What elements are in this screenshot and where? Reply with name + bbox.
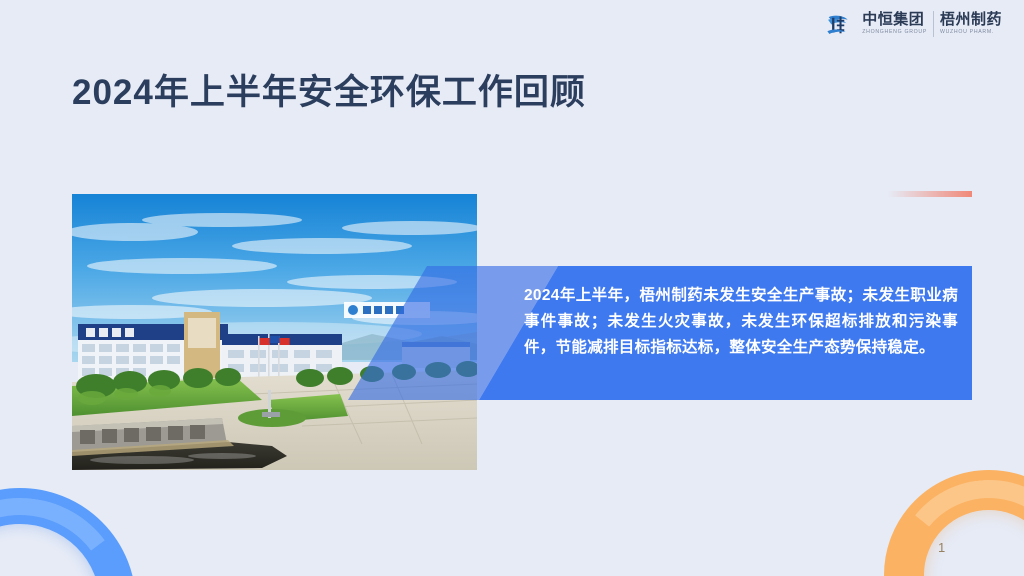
logo-sub-cn: 梧州制药 — [940, 12, 1002, 28]
message-panel: 2024年上半年，梧州制药未发生安全生产事故；未发生职业病事件事故；未发生火灾事… — [348, 266, 972, 400]
company-logo: 中恒集团 ZHONGHENG GROUP 梧州制药 WUZHOU PHARM. — [824, 7, 1008, 41]
page-title: 2024年上半年安全环保工作回顾 — [72, 64, 586, 115]
slide-canvas: 中恒集团 ZHONGHENG GROUP 梧州制药 WUZHOU PHARM. … — [0, 0, 1024, 576]
logo-text-block: 中恒集团 ZHONGHENG GROUP 梧州制药 WUZHOU PHARM. — [856, 9, 1008, 39]
logo-brand-cn: 中恒集团 — [862, 12, 927, 28]
logo-brand-en: ZHONGHENG GROUP — [862, 28, 927, 36]
logo-sub-en: WUZHOU PHARM. — [940, 28, 1002, 36]
accent-bar — [888, 191, 972, 197]
page-number: 1 — [938, 540, 945, 555]
logo-brand-secondary: 梧州制药 WUZHOU PHARM. — [934, 9, 1008, 39]
message-text: 2024年上半年，梧州制药未发生安全生产事故；未发生职业病事件事故；未发生火灾事… — [524, 283, 958, 361]
logo-brand-primary: 中恒集团 ZHONGHENG GROUP — [856, 9, 933, 39]
zhongheng-logo-mark — [824, 11, 851, 38]
